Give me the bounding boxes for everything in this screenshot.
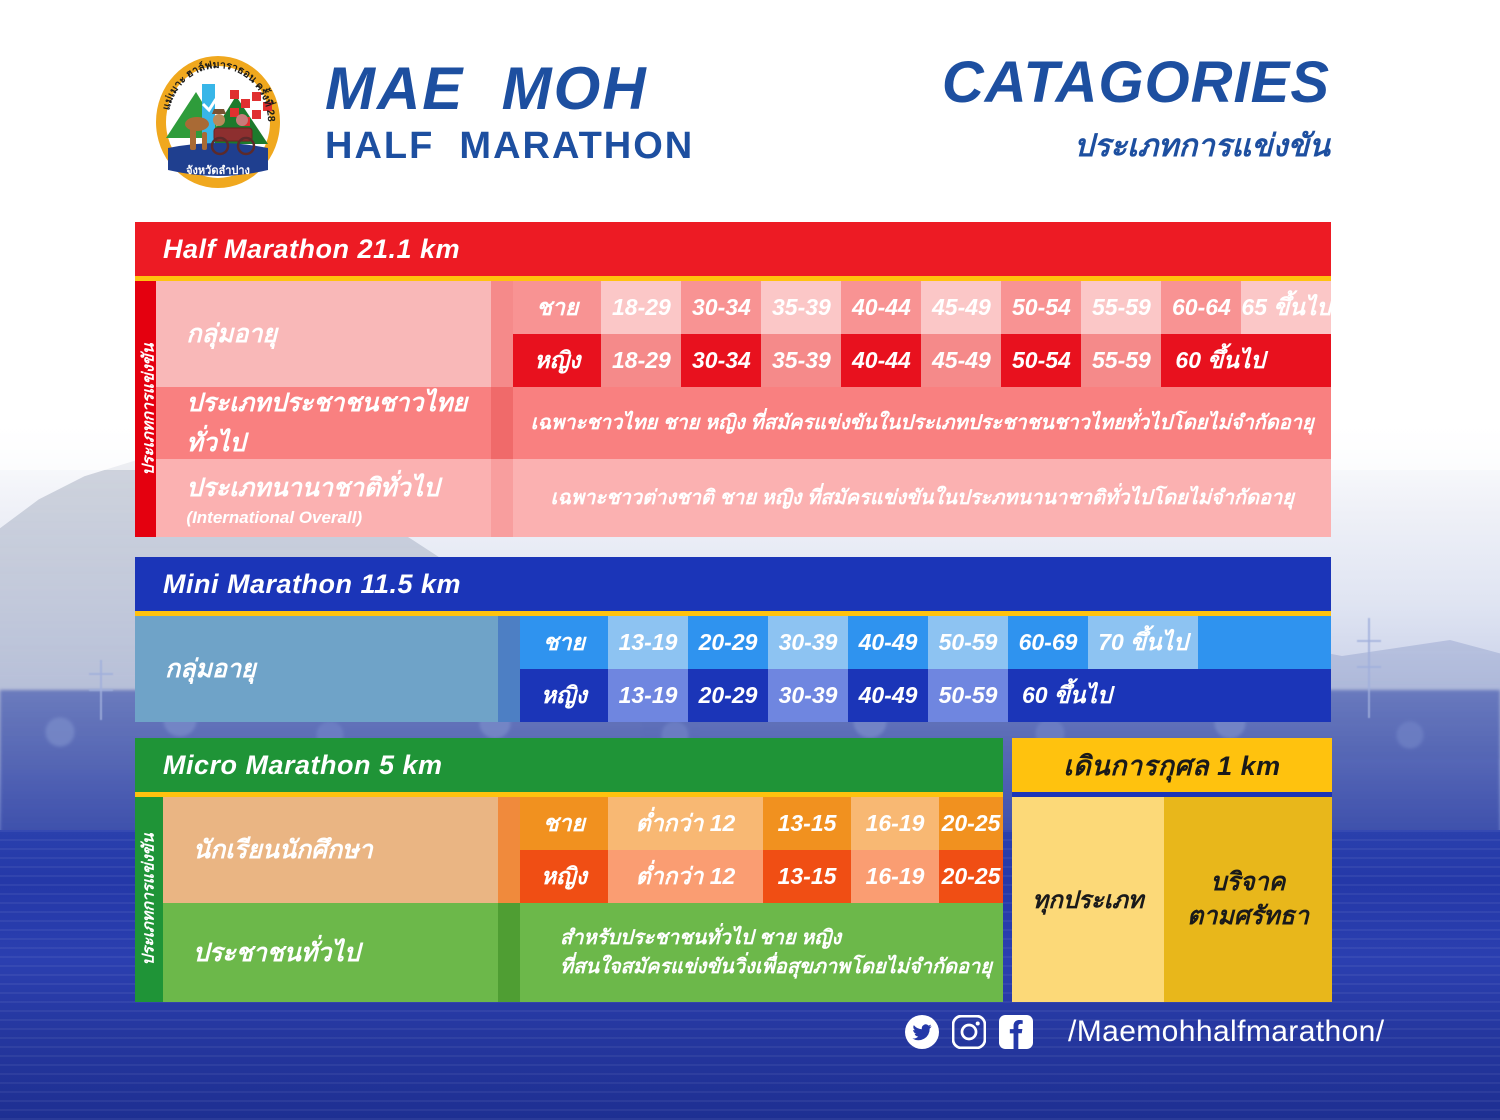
- micro-marathon-heading: Micro Marathon 5 km: [135, 738, 1003, 792]
- instagram-icon[interactable]: [952, 1015, 986, 1049]
- mini-age-group-label: กลุ่มอายุ: [135, 616, 498, 722]
- micro-divider: [498, 797, 520, 903]
- half-intl-desc: เฉพาะชาวต่างชาติ ชาย หญิง ที่สมัครแข่งขั…: [513, 459, 1331, 537]
- charity-walk-heading: เดินการกุศล 1 km: [1012, 738, 1332, 792]
- half-female-age: 30-34: [681, 334, 761, 387]
- half-female-label: หญิง: [513, 334, 601, 387]
- page-subtitle: HALF MARATHON: [325, 125, 694, 168]
- half-male-age: 60-64: [1161, 281, 1241, 334]
- micro-marathon-side-label: ประเภทการแข่งขัน: [135, 797, 163, 1002]
- half-marathon-block: Half Marathon 21.1 km ประเภทการแข่งขัน ก…: [135, 222, 1331, 537]
- facebook-icon[interactable]: [999, 1015, 1033, 1049]
- social-footer: /Maemohhalfmarathon/: [905, 1015, 1385, 1049]
- mini-female-age: 20-29: [688, 669, 768, 722]
- micro-side-label-text: ประเภทการแข่งขัน: [137, 833, 162, 965]
- twitter-icon[interactable]: [905, 1015, 939, 1049]
- mini-marathon-heading: Mini Marathon 11.5 km: [135, 557, 1331, 611]
- half-divider: [491, 459, 513, 537]
- charity-donation-line1: บริจาค: [1211, 866, 1286, 900]
- micro-female-age: 20-25: [939, 850, 1003, 903]
- half-age-group-row: กลุ่มอายุ ชาย 18-29 30-34 35-39 40-44 45…: [156, 281, 1331, 387]
- micro-divider: [498, 903, 520, 1002]
- poster-root: จังหวัดลำปาง แม่เมาะ ฮาล์ฟมาราธอน ครั้งท…: [0, 0, 1500, 1120]
- half-female-age: 50-54: [1001, 334, 1081, 387]
- half-divider: [491, 281, 513, 387]
- mini-male-age: 13-19: [608, 616, 688, 669]
- mini-female-age: 40-49: [848, 669, 928, 722]
- mini-male-age: 60-69: [1008, 616, 1088, 669]
- mini-male-age: 50-59: [928, 616, 1008, 669]
- micro-male-age: ต่ำกว่า 12: [608, 797, 763, 850]
- half-divider: [491, 387, 513, 459]
- mini-male-label: ชาย: [520, 616, 608, 669]
- mini-female-row: หญิง 13-19 20-29 30-39 40-49 50-59 60 ขึ…: [520, 669, 1331, 722]
- half-female-age: 60 ขึ้นไป: [1161, 334, 1331, 387]
- micro-female-row: หญิง ต่ำกว่า 12 13-15 16-19 20-25: [520, 850, 1003, 903]
- half-intl-row: ประเภทนานาชาติทั่วไป (International Over…: [156, 459, 1331, 537]
- half-thai-row: ประเภทประชาชนชาวไทยทั่วไป เฉพาะชาวไทย ชา…: [156, 387, 1331, 459]
- micro-female-age: 16-19: [851, 850, 939, 903]
- logo-bottom-text: จังหวัดลำปาง: [186, 164, 250, 177]
- micro-male-age: 16-19: [851, 797, 939, 850]
- half-male-age: 35-39: [761, 281, 841, 334]
- half-male-label: ชาย: [513, 281, 601, 334]
- micro-public-label: ประชาชนทั่วไป: [163, 903, 498, 1002]
- micro-public-desc: สำหรับประชาชนทั่วไป ชาย หญิง ที่สนใจสมัค…: [520, 903, 1003, 1002]
- half-intl-label: ประเภทนานาชาติทั่วไป (International Over…: [156, 459, 491, 537]
- mini-marathon-block: Mini Marathon 11.5 km กลุ่มอายุ ชาย 13-1…: [135, 557, 1331, 722]
- half-marathon-side-label: ประเภทการแข่งขัน: [135, 281, 156, 537]
- social-handle: /Maemohhalfmarathon/: [1068, 1015, 1385, 1049]
- half-male-row: ชาย 18-29 30-34 35-39 40-44 45-49 50-54 …: [513, 281, 1331, 334]
- poster-header: จังหวัดลำปาง แม่เมาะ ฮาล์ฟมาราธอน ครั้งท…: [0, 0, 1500, 205]
- event-logo: จังหวัดลำปาง แม่เมาะ ฮาล์ฟมาราธอน ครั้งท…: [150, 52, 286, 192]
- event-title-block: MAE MOH HALF MARATHON: [325, 58, 694, 168]
- micro-female-age: ต่ำกว่า 12: [608, 850, 763, 903]
- half-male-age: 40-44: [841, 281, 921, 334]
- mini-male-filler: [1198, 616, 1331, 669]
- micro-male-age: 20-25: [939, 797, 1003, 850]
- mini-male-age: 30-39: [768, 616, 848, 669]
- half-male-age: 55-59: [1081, 281, 1161, 334]
- half-male-age: 50-54: [1001, 281, 1081, 334]
- charity-all-types: ทุกประเภท: [1012, 797, 1164, 1002]
- half-female-row: หญิง 18-29 30-34 35-39 40-44 45-49 50-54…: [513, 334, 1331, 387]
- mini-male-age: 40-49: [848, 616, 928, 669]
- micro-marathon-block: Micro Marathon 5 km ประเภทการแข่งขัน นัก…: [135, 738, 1003, 1002]
- half-intl-label-sub: (International Overall): [186, 508, 439, 528]
- mini-divider: [498, 616, 520, 722]
- micro-male-row: ชาย ต่ำกว่า 12 13-15 16-19 20-25: [520, 797, 1003, 850]
- half-marathon-body: ประเภทการแข่งขัน กลุ่มอายุ ชาย 18-29 30-…: [135, 281, 1331, 537]
- half-thai-label: ประเภทประชาชนชาวไทยทั่วไป: [156, 387, 491, 459]
- background-pylon-1: [100, 660, 102, 720]
- half-female-age: 45-49: [921, 334, 1001, 387]
- half-male-age: 45-49: [921, 281, 1001, 334]
- mini-marathon-body: กลุ่มอายุ ชาย 13-19 20-29 30-39 40-49 50…: [135, 616, 1331, 722]
- half-intl-label-text: ประเภทนานาชาติทั่วไป: [186, 474, 439, 502]
- mini-male-age: 70 ขึ้นไป: [1088, 616, 1198, 669]
- micro-marathon-body: ประเภทการแข่งขัน นักเรียนนักศึกษา ชาย ต่…: [135, 797, 1003, 1002]
- micro-female-label: หญิง: [520, 850, 608, 903]
- charity-walk-block: เดินการกุศล 1 km ทุกประเภท บริจาค ตามศรั…: [1012, 738, 1332, 1002]
- charity-donation-line2: ตามศรัทธา: [1187, 900, 1309, 934]
- half-female-age: 40-44: [841, 334, 921, 387]
- half-side-label-text: ประเภทการแข่งขัน: [137, 343, 162, 475]
- half-thai-desc: เฉพาะชาวไทย ชาย หญิง ที่สมัครแข่งขันในปร…: [513, 387, 1331, 459]
- half-female-age: 18-29: [601, 334, 681, 387]
- mini-female-age: 50-59: [928, 669, 1008, 722]
- mini-female-age: 13-19: [608, 669, 688, 722]
- micro-public-desc-line2: ที่สนใจสมัครแข่งขันวิ่งเพื่อสุขภาพโดยไม่…: [560, 953, 992, 982]
- half-male-age: 30-34: [681, 281, 761, 334]
- charity-donation: บริจาค ตามศรัทธา: [1164, 797, 1332, 1002]
- categories-title-thai: ประเภทการแข่งขัน: [942, 120, 1330, 170]
- half-marathon-heading: Half Marathon 21.1 km: [135, 222, 1331, 276]
- mini-female-label: หญิง: [520, 669, 608, 722]
- charity-walk-body: ทุกประเภท บริจาค ตามศรัทธา: [1012, 797, 1332, 1002]
- mini-male-row: ชาย 13-19 20-29 30-39 40-49 50-59 60-69 …: [520, 616, 1331, 669]
- half-female-age: 35-39: [761, 334, 841, 387]
- micro-student-row: นักเรียนนักศึกษา ชาย ต่ำกว่า 12 13-15 16…: [163, 797, 1003, 903]
- half-male-age: 18-29: [601, 281, 681, 334]
- half-female-age: 55-59: [1081, 334, 1161, 387]
- event-logo-icon: จังหวัดลำปาง แม่เมาะ ฮาล์ฟมาราธอน ครั้งท…: [150, 52, 286, 192]
- micro-student-label: นักเรียนนักศึกษา: [163, 797, 498, 903]
- mini-female-age: 60 ขึ้นไป: [1008, 669, 1331, 722]
- categories-title-block: CATAGORIES ประเภทการแข่งขัน: [942, 54, 1330, 170]
- categories-title: CATAGORIES: [942, 54, 1330, 112]
- micro-male-label: ชาย: [520, 797, 608, 850]
- mini-female-age: 30-39: [768, 669, 848, 722]
- mini-male-age: 20-29: [688, 616, 768, 669]
- micro-public-row: ประชาชนทั่วไป สำหรับประชาชนทั่วไป ชาย หญ…: [163, 903, 1003, 1002]
- micro-public-desc-line1: สำหรับประชาชนทั่วไป ชาย หญิง: [560, 924, 992, 953]
- page-title: MAE MOH: [325, 58, 694, 119]
- half-male-age: 65 ขึ้นไป: [1241, 281, 1331, 334]
- micro-male-age: 13-15: [763, 797, 851, 850]
- background-pylon-4: [1368, 618, 1370, 718]
- micro-female-age: 13-15: [763, 850, 851, 903]
- half-age-group-label: กลุ่มอายุ: [156, 281, 491, 387]
